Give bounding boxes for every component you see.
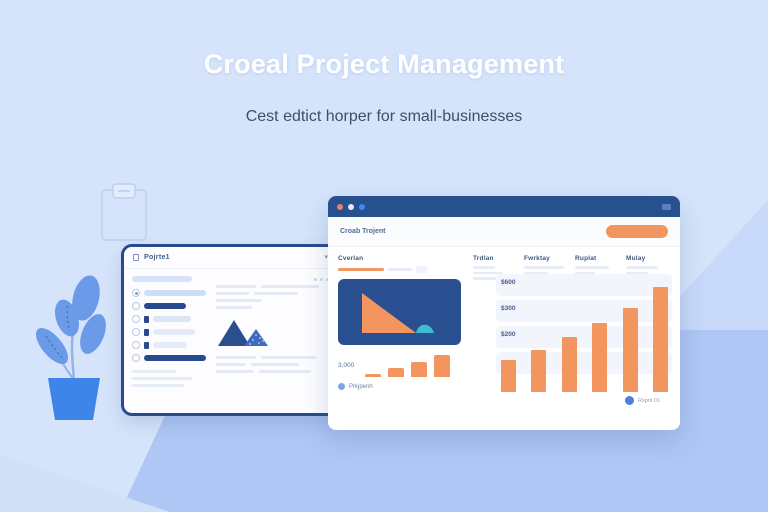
more-dots-icon[interactable] <box>216 278 329 281</box>
placeholder-line <box>524 266 564 269</box>
placeholder-line <box>216 356 256 359</box>
placeholder-line <box>216 370 254 373</box>
browser-titlebar <box>328 196 680 217</box>
content-text-row <box>216 306 329 309</box>
primary-cta-button[interactable] <box>606 225 668 238</box>
radio-selected-icon[interactable] <box>132 289 140 297</box>
list-item-label <box>153 329 195 335</box>
placeholder-line <box>132 370 176 373</box>
placeholder-line <box>259 370 311 373</box>
row-action-button[interactable] <box>416 266 427 273</box>
legend-label: Prkjpenh <box>349 384 373 390</box>
potted-plant-icon <box>36 262 112 427</box>
placeholder-line <box>216 363 246 366</box>
placeholder-line <box>261 285 319 288</box>
mini-bar-chart: 3,000 <box>338 353 466 377</box>
legend-dot-icon <box>338 383 345 390</box>
placeholder-line <box>132 377 192 380</box>
list-item[interactable] <box>132 328 208 336</box>
placeholder-line <box>261 356 317 359</box>
bar <box>531 350 546 392</box>
dashboard-column-overview: Cverlan 3,000 Prkjpe <box>338 255 466 390</box>
footer-label: Rxpnt 01 <box>638 398 660 404</box>
circle-icon[interactable] <box>132 354 140 362</box>
content-text-row <box>216 292 329 295</box>
list-item[interactable] <box>132 302 208 310</box>
dashboard-browser-window[interactable]: Croab Trojent Cverlan 3,000 <box>328 196 680 430</box>
placeholder-line <box>473 266 495 269</box>
project-panel-title: Pojrte1 <box>144 254 170 261</box>
mini-bar <box>388 368 404 377</box>
mini-chart-label: 3,000 <box>338 362 354 369</box>
placeholder-line <box>254 292 298 295</box>
triangle-chart-card <box>338 279 461 345</box>
minimize-dot-icon[interactable] <box>348 204 354 210</box>
placeholder-line <box>216 285 256 288</box>
list-item-label <box>144 290 206 296</box>
bar <box>592 323 607 392</box>
bar <box>501 360 516 392</box>
page-title: Croeal Project Management <box>0 48 768 80</box>
hero-section: Croeal Project Management Cest edtict ho… <box>0 48 768 126</box>
placeholder-line <box>388 268 412 271</box>
placeholder-line <box>626 266 658 269</box>
placeholder-line <box>132 384 184 387</box>
clipboard-icon <box>98 182 150 244</box>
list-item[interactable] <box>132 289 208 297</box>
bar <box>623 308 638 392</box>
list-item-label <box>144 303 186 309</box>
page-subtitle: Cest edtict horper for small-businesses <box>0 108 768 126</box>
column-header: Ruplat <box>575 255 619 262</box>
placeholder-line <box>216 306 252 309</box>
list-item-marker <box>144 342 149 349</box>
list-item-marker <box>144 329 149 336</box>
dashboard-toolbar: Croab Trojent <box>328 217 680 247</box>
bar-chart-plot: $600 $300 $200 <box>496 274 672 392</box>
project-list-footer <box>132 370 208 387</box>
mini-bar <box>411 362 427 377</box>
circle-icon[interactable] <box>132 315 140 323</box>
project-panel-window[interactable]: Pojrte1 ▾ <box>121 244 340 416</box>
search-input[interactable] <box>132 276 192 282</box>
project-panel-header: Pojrte1 ▾ <box>124 247 337 269</box>
mountains-image-icon <box>216 317 270 347</box>
mini-bar <box>434 355 450 377</box>
placeholder-line <box>216 299 262 302</box>
list-item-marker <box>144 316 149 323</box>
project-panel-body <box>124 269 337 391</box>
list-item-label <box>153 316 191 322</box>
list-item-label <box>153 342 187 348</box>
window-icon[interactable] <box>662 204 671 210</box>
placeholder-line <box>575 266 609 269</box>
list-item[interactable] <box>132 341 208 349</box>
column-header: Mulay <box>626 255 670 262</box>
content-text-row <box>216 370 329 373</box>
bar <box>562 337 577 392</box>
maximize-dot-icon[interactable] <box>359 204 365 210</box>
column-header: Fwrktay <box>524 255 568 262</box>
list-item[interactable] <box>132 354 208 362</box>
content-text-row <box>216 356 329 359</box>
mini-bar <box>365 374 381 377</box>
close-dot-icon[interactable] <box>337 204 343 210</box>
dashboard-footer: Rxpnt 01 <box>496 392 672 405</box>
content-text-row <box>216 285 329 288</box>
placeholder-line <box>216 292 249 295</box>
chart-legend: Prkjpenh <box>338 383 466 390</box>
dashboard-title: Croab Trojent <box>340 228 386 235</box>
project-content-column <box>216 276 329 391</box>
user-avatar-icon[interactable] <box>625 396 634 405</box>
pie-icon[interactable] <box>132 328 140 336</box>
content-text-row <box>216 299 329 302</box>
clock-icon[interactable] <box>132 302 140 310</box>
column-header: Cverlan <box>338 255 466 262</box>
bar-series <box>499 280 670 392</box>
project-list-column <box>132 276 208 391</box>
clock-icon[interactable] <box>132 341 140 349</box>
content-text-row <box>216 363 329 366</box>
bar <box>653 287 668 392</box>
progress-row <box>338 266 466 273</box>
main-bar-chart: $600 $300 $200 Rxpnt 01 <box>496 272 672 405</box>
column-header: Trdlan <box>473 255 517 262</box>
placeholder-line <box>251 363 299 366</box>
document-icon <box>133 254 139 261</box>
list-item[interactable] <box>132 315 208 323</box>
list-item-label <box>144 355 206 361</box>
progress-bar <box>338 268 384 271</box>
